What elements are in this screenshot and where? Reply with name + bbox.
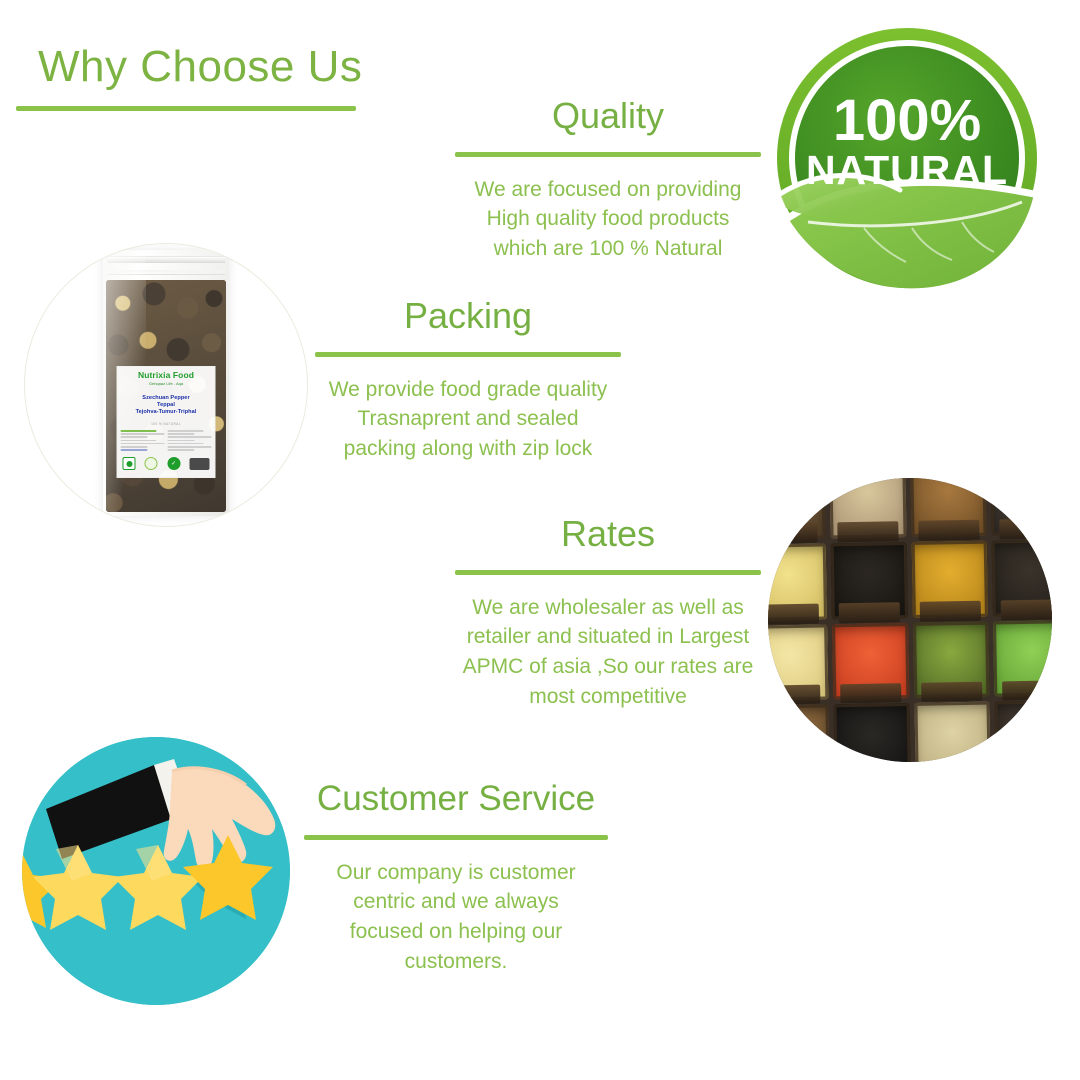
pouch-product-line: Szechuan Pepper (142, 395, 189, 401)
customer-service-illustration (22, 737, 290, 1005)
pouch-text-line (121, 436, 148, 438)
feature-body-line: We are focused on providing (475, 178, 742, 201)
spice-bin (832, 623, 909, 700)
spice-bin (992, 539, 1052, 616)
feature-body-line: Our company is customer (336, 861, 575, 884)
spice-market-photo (768, 478, 1052, 762)
pouch-text-line (168, 433, 195, 435)
hundred-percent-natural-badge-icon: 100% NATURAL (772, 22, 1042, 294)
pouch-seal (107, 270, 225, 275)
pouch-certification-icons: ✓ (121, 457, 212, 470)
page-title-underline (16, 106, 356, 111)
feature-body-line: centric and we always (353, 890, 558, 913)
feature-body-line: packing along with zip lock (344, 437, 593, 460)
spice-bin (910, 478, 987, 537)
pouch-text-line (121, 440, 157, 442)
feature-body-line: We provide food grade quality (329, 378, 608, 401)
pouch-zip-lock (107, 256, 225, 263)
feature-body-line: High quality food products (487, 207, 730, 230)
pouch-text-line (168, 443, 204, 445)
pouch-text-line (168, 446, 212, 448)
spice-bin (768, 624, 828, 701)
organic-icon (145, 457, 158, 470)
spice-bin (913, 621, 990, 698)
pouch-text-line (121, 446, 148, 448)
pouch-text-line (168, 436, 212, 438)
spice-bin (833, 703, 910, 762)
spice-bin (990, 478, 1052, 535)
spice-bins-grid (768, 478, 1052, 762)
feature-body-line: APMC of asia ,So our rates are (463, 655, 754, 678)
feature-divider-rates (455, 570, 761, 575)
pouch-text-line (168, 440, 195, 442)
pouch-product-name: Szechuan Pepper Teppal Tejohva-Tumur-Tri… (121, 395, 212, 416)
spice-bin (768, 478, 825, 540)
feature-heading-rates: Rates (440, 514, 776, 554)
fssai-icon: ✓ (167, 457, 180, 470)
pouch-text-line (121, 443, 165, 445)
feature-body-line: retailer and situated in Largest (467, 625, 750, 648)
pouch-text-line (121, 449, 148, 451)
spice-bin (768, 705, 830, 762)
page-title: Why Choose Us (38, 42, 362, 92)
pouch-brand-name: Nutrixia Food (121, 371, 212, 380)
feature-divider-quality (455, 152, 761, 157)
pouch-label: Nutrixia Food Gehqaaz Life - Aqa Szechua… (117, 366, 216, 478)
pouch-body: Nutrixia Food Gehqaaz Life - Aqa Szechua… (103, 250, 229, 516)
pouch-natural-note: 100 % NATURAL (121, 422, 212, 426)
feature-body-line: which are 100 % Natural (494, 237, 723, 260)
feature-divider-packing (315, 352, 621, 357)
feature-body-rates: We are wholesaler as well as retailer an… (440, 593, 776, 712)
feature-block-quality: Quality We are focused on providing High… (440, 96, 776, 264)
feature-body-packing: We provide food grade quality Trasnapren… (300, 375, 636, 464)
feature-block-packing: Packing We provide food grade quality Tr… (300, 296, 636, 464)
feature-heading-packing: Packing (300, 296, 636, 336)
spice-bin (768, 543, 827, 620)
pouch-info-columns (121, 430, 212, 452)
pouch-info-col-right (168, 430, 212, 452)
feature-body-line: Trasnaprent and sealed (357, 407, 578, 430)
veg-mark-icon (123, 457, 136, 470)
pouch-text-line (121, 433, 165, 435)
spice-bin (830, 542, 907, 619)
product-pouch-image: Nutrixia Food Gehqaaz Life - Aqa Szechua… (24, 243, 308, 527)
feature-body-line: focused on helping our (350, 920, 563, 943)
pouch-text-line (168, 430, 204, 432)
spice-bin (911, 540, 988, 617)
pouch-tagline: Gehqaaz Life - Aqa (121, 382, 212, 386)
spice-bin (993, 620, 1052, 697)
spice-bin (995, 700, 1052, 762)
feature-body-line: most competitive (529, 685, 687, 708)
badge-percent-text: 100% (833, 88, 981, 153)
feature-body-line: customers. (405, 950, 508, 973)
spice-bin (829, 478, 906, 538)
feature-divider-customer-service (304, 835, 608, 840)
feature-block-rates: Rates We are wholesaler as well as retai… (440, 514, 776, 712)
pouch-product-line: Tejohva-Tumur-Triphal (136, 409, 197, 415)
spice-bin (914, 702, 991, 762)
feature-heading-quality: Quality (440, 96, 776, 136)
badge-natural-text: NATURAL (806, 147, 1008, 193)
feature-heading-customer-service: Customer Service (288, 780, 624, 819)
pouch-text-line (121, 430, 157, 432)
pouch-info-col-left (121, 430, 165, 452)
feature-block-customer-service: Customer Service Our company is customer… (288, 780, 624, 977)
pouch-text-line (168, 449, 195, 451)
feature-body-line: We are wholesaler as well as (472, 596, 744, 619)
pouch-product-line: Teppal (157, 402, 175, 408)
feature-body-quality: We are focused on providing High quality… (440, 175, 776, 264)
feature-body-customer-service: Our company is customer centric and we a… (288, 858, 624, 977)
brand-logo-icon (189, 458, 209, 470)
